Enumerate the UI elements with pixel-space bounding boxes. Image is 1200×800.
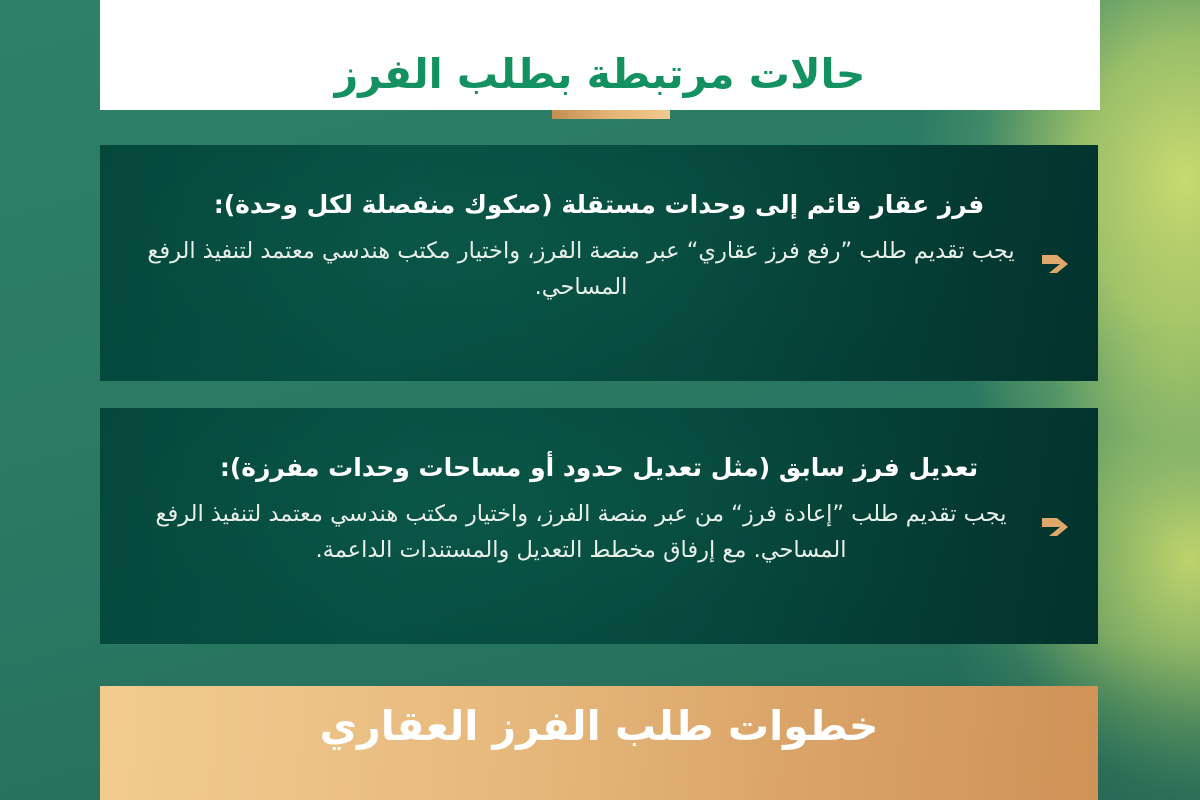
card-2-body-row: يجب تقديم طلب ”إعادة فرز“ من عبر منصة ال… bbox=[128, 496, 1070, 569]
chevron-left-arrow-icon bbox=[1040, 512, 1070, 538]
bottom-banner-title: خطوات طلب الفرز العقاري bbox=[100, 702, 1098, 750]
info-card-1: فرز عقار قائم إلى وحدات مستقلة (صكوك منف… bbox=[100, 145, 1098, 381]
card-1-title: فرز عقار قائم إلى وحدات مستقلة (صكوك منف… bbox=[136, 189, 1062, 220]
chevron-left-arrow-icon bbox=[1040, 249, 1070, 275]
page-title: حالات مرتبطة بطلب الفرز bbox=[100, 27, 1100, 137]
card-2-title: تعديل فرز سابق (مثل تعديل حدود أو مساحات… bbox=[136, 452, 1062, 483]
card-2-body-text: يجب تقديم طلب ”إعادة فرز“ من عبر منصة ال… bbox=[128, 496, 1026, 569]
card-1-body-text: يجب تقديم طلب ”رفع فرز عقاري“ عبر منصة ا… bbox=[128, 233, 1026, 306]
bottom-section-banner: خطوات طلب الفرز العقاري bbox=[100, 686, 1098, 800]
card-1-body-row: يجب تقديم طلب ”رفع فرز عقاري“ عبر منصة ا… bbox=[128, 233, 1070, 306]
info-card-2: تعديل فرز سابق (مثل تعديل حدود أو مساحات… bbox=[100, 408, 1098, 644]
header-divider-rule bbox=[552, 110, 670, 119]
